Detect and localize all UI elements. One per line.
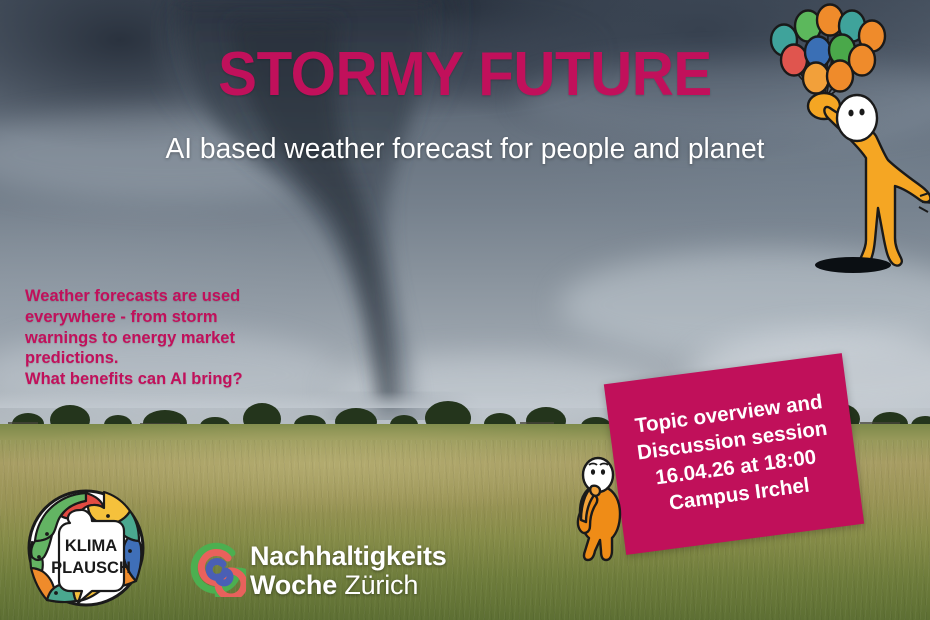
event-banner: Topic overview and Discussion session 16… [604, 353, 864, 555]
nhw-line-1: Nachhaltigkeits [250, 542, 447, 571]
logo-nachhaltigkeitswoche-mark [188, 541, 246, 597]
logo-nachhaltigkeitswoche-text: Nachhaltigkeits Woche Zürich [250, 542, 447, 600]
body-line-4: predictions. [25, 349, 119, 367]
body-question: What benefits can AI bring? [25, 369, 325, 390]
body-line-2: everywhere - from storm [25, 308, 218, 326]
ground-shadow-ellipse [808, 252, 898, 278]
figure-floating-with-balloons [762, 0, 930, 281]
body-copy: Weather forecasts are used everywhere - … [25, 286, 325, 390]
figure-thinking-pose [562, 452, 634, 564]
logo-klima-plausch: KLIMA PLAUSCH [26, 489, 146, 607]
event-banner-text: Topic overview and Discussion session 16… [608, 384, 860, 523]
nhw-woche: Woche [250, 570, 337, 600]
body-line-3: warnings to energy market [25, 329, 235, 347]
poster-canvas: STORMY FUTURE AI based weather forecast … [0, 0, 930, 620]
klima-logo-line-1: KLIMA [65, 537, 117, 555]
body-line-1: Weather forecasts are used [25, 287, 240, 305]
nhw-line-2: Woche Zürich [250, 571, 447, 600]
nhw-city: Zürich [344, 570, 418, 600]
klima-logo-line-2: PLAUSCH [51, 559, 131, 577]
